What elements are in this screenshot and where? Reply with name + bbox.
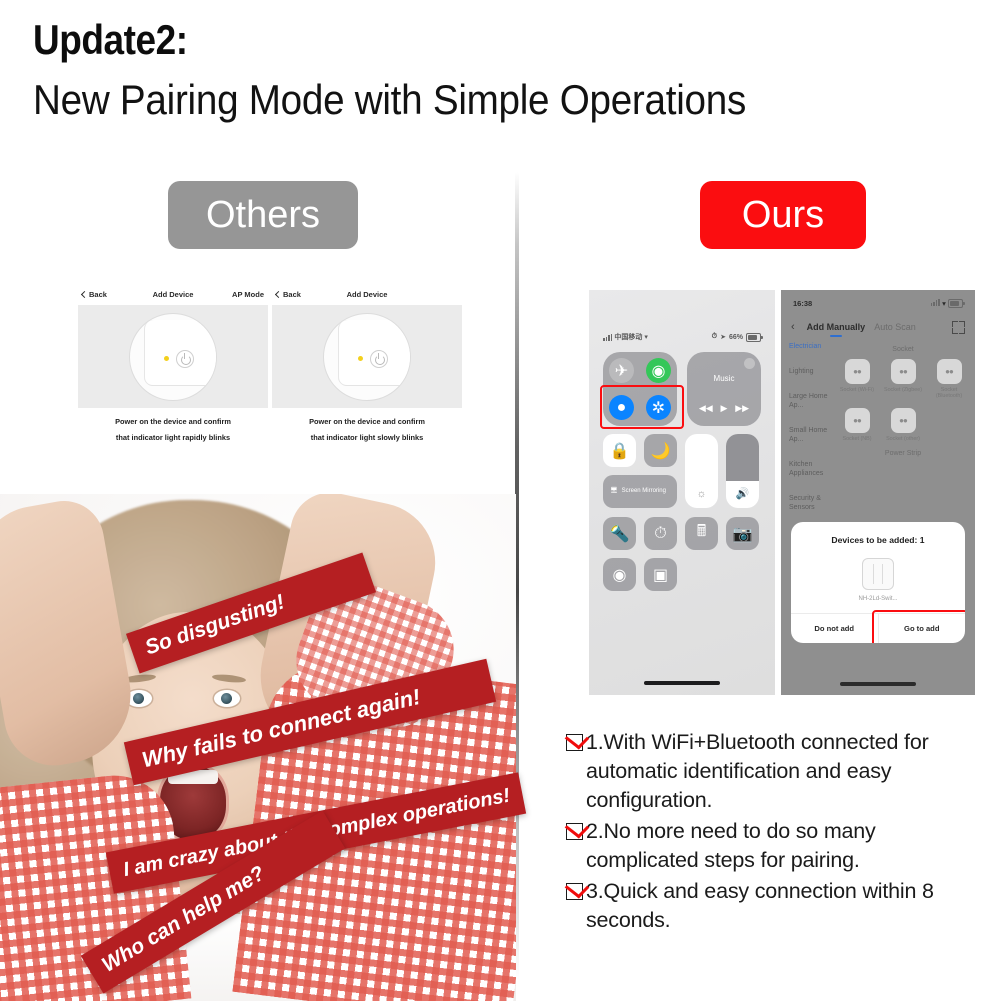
instruction-line-1: Power on the device and confirm — [272, 417, 462, 426]
rotation-lock-icon[interactable]: 🔒 — [603, 434, 636, 467]
power-button-icon — [370, 350, 388, 368]
device-item[interactable]: ●● Socket (Zigbee) — [883, 359, 923, 400]
music-title: Music — [687, 374, 761, 383]
smart-app-add-device-screenshot: 16:38 ▾ ‹ Add Manually Auto Scan Electri… — [781, 290, 975, 695]
control-center-grid: ✈ ◉ ● ✲ Music ◀◀ ▶ ▶▶ 🔒 🌙 🖥 — [603, 352, 761, 591]
connectivity-module: ✈ ◉ ● ✲ — [603, 352, 677, 426]
list-item: 3.Quick and easy connection within 8 sec… — [566, 877, 992, 935]
ios-control-center-screenshot: 中国移动 ▾ ⏱ ➤ 66% ✈ ◉ ● ✲ Music ◀◀ ▶ ▶▶ — [589, 290, 775, 695]
ours-badge: Ours — [700, 181, 866, 249]
list-item: 1.With WiFi+Bluetooth connected for auto… — [566, 728, 992, 815]
dialog-buttons: Do not add Go to add — [791, 613, 965, 643]
section-header-power-strip: Power Strip — [837, 450, 969, 457]
status-bar-right: ▾ — [931, 299, 963, 309]
control-center-row-3: 🔦 ⏱ 🖩 📷 — [603, 517, 761, 550]
socket-icon: ●● — [845, 359, 870, 384]
play-icon[interactable]: ▶ — [721, 403, 728, 414]
tab-add-manually[interactable]: Add Manually — [807, 322, 866, 332]
cellular-signal-icon — [603, 334, 612, 341]
previous-track-icon[interactable]: ◀◀ — [699, 403, 713, 414]
calculator-icon[interactable]: 🖩 — [685, 517, 718, 550]
status-bar-left: 中国移动 ▾ — [603, 332, 648, 342]
device-circle — [323, 313, 411, 401]
bullet-text: 1.With WiFi+Bluetooth connected for auto… — [586, 728, 992, 815]
clock-label: 16:38 — [793, 299, 812, 308]
feature-bullet-list: 1.With WiFi+Bluetooth connected for auto… — [566, 728, 992, 937]
indicator-led-icon — [164, 356, 169, 361]
dialog-title: Devices to be added: 1 — [791, 522, 965, 545]
sidebar-item-lighting[interactable]: Lighting — [789, 367, 833, 376]
device-illustration — [78, 305, 268, 408]
device-label: Socket (Zigbee) — [883, 387, 923, 393]
flashlight-icon[interactable]: 🔦 — [603, 517, 636, 550]
screen-mirroring-icon: 🖥 — [610, 488, 618, 495]
socket-icon: ●● — [937, 359, 962, 384]
devices-found-dialog: Devices to be added: 1 NH-2Ld-Swit... Do… — [791, 522, 965, 643]
checkbox-checked-icon — [566, 734, 583, 751]
device-item[interactable]: ●● Socket (Bluetooth) — [929, 359, 969, 400]
indicator-led-icon — [358, 356, 363, 361]
battery-icon — [948, 299, 963, 308]
qr-scan-icon[interactable]: ▣ — [644, 558, 677, 591]
checkbox-checked-icon — [566, 883, 583, 900]
volume-icon: 🔊 — [726, 487, 759, 500]
navbar-title: Add Device — [347, 290, 388, 299]
camera-icon[interactable]: 📷 — [726, 517, 759, 550]
music-widget[interactable]: Music ◀◀ ▶ ▶▶ — [687, 352, 761, 426]
cellular-data-icon[interactable]: ◉ — [646, 358, 671, 383]
device-catalog: Socket ●● Socket (Wi-Fi) ●● Socket (Zigb… — [837, 342, 969, 463]
category-sidebar: Electrician Lighting Large Home Ap... Sm… — [781, 342, 833, 528]
bullet-text: 2.No more need to do so many complicated… — [586, 817, 992, 875]
cellular-signal-icon — [931, 299, 940, 306]
wifi-icon: ▾ — [644, 333, 648, 341]
device-row: ●● Socket (Wi-Fi) ●● Socket (Zigbee) ●● … — [837, 359, 969, 400]
sidebar-item-small-home-appliances[interactable]: Small Home Ap... — [789, 426, 833, 444]
chevron-left-icon — [275, 290, 282, 297]
battery-icon — [746, 333, 761, 342]
airplay-icon[interactable] — [744, 358, 755, 369]
device-row: ●● Socket (NB) ●● Socket (other) — [837, 408, 969, 442]
status-bar: 中国移动 ▾ ⏱ ➤ 66% — [589, 330, 775, 344]
next-track-icon[interactable]: ▶▶ — [735, 403, 749, 414]
alarm-icon: ⏱ — [712, 333, 717, 341]
device-label: Socket (NB) — [837, 436, 877, 442]
instruction-line-1: Power on the device and confirm — [78, 417, 268, 426]
socket-icon: ●● — [891, 408, 916, 433]
brightness-slider[interactable]: ☼ — [685, 434, 718, 508]
others-badge: Others — [168, 181, 358, 249]
status-bar: 16:38 ▾ — [781, 297, 975, 310]
home-indicator — [644, 681, 720, 685]
bullet-text: 3.Quick and easy connection within 8 sec… — [586, 877, 992, 935]
app-navbar: Back Add Device — [272, 284, 462, 304]
sidebar-item-kitchen-appliances[interactable]: Kitchen Appliances — [789, 460, 833, 478]
socket-icon: ●● — [845, 408, 870, 433]
volume-slider[interactable]: 🔊 — [726, 434, 759, 508]
power-button-icon — [176, 350, 194, 368]
switch-device-icon — [862, 558, 894, 590]
back-button[interactable]: Back — [276, 290, 301, 299]
device-label: Socket (other) — [883, 436, 923, 442]
back-label: Back — [283, 290, 301, 299]
go-to-add-button[interactable]: Go to add — [879, 614, 966, 643]
page-title: Update2: New Pairing Mode with Simple Op… — [33, 16, 993, 126]
control-center-row-2: 🔒 🌙 🖥 Screen Mirroring ☼ 🔊 — [603, 426, 761, 508]
status-bar-right: ⏱ ➤ 66% — [712, 333, 761, 342]
airplane-mode-icon[interactable]: ✈ — [609, 358, 634, 383]
back-button[interactable]: Back — [82, 290, 107, 299]
ap-mode-button[interactable]: AP Mode — [232, 290, 264, 299]
tab-auto-scan[interactable]: Auto Scan — [874, 322, 916, 332]
device-illustration — [272, 305, 462, 408]
back-label: Back — [89, 290, 107, 299]
navbar-title: Add Device — [153, 290, 194, 299]
device-circle — [129, 313, 217, 401]
dialog-device: NH-2Ld-Swit... — [791, 545, 965, 613]
device-model-label: NH-2Ld-Swit... — [791, 596, 965, 602]
sidebar-item-security-sensors[interactable]: Security & Sensors — [789, 494, 833, 512]
device-item[interactable]: ●● Socket (NB) — [837, 408, 877, 442]
timer-icon[interactable]: ⏱ — [644, 517, 677, 550]
sidebar-item-large-home-appliances[interactable]: Large Home Ap... — [789, 392, 833, 410]
device-label: Socket (Bluetooth) — [929, 387, 969, 400]
headline-line-1: Update2: — [33, 16, 878, 64]
music-controls: ◀◀ ▶ ▶▶ — [687, 403, 761, 414]
instruction-line-2: that indicator light slowly blinks — [272, 433, 462, 442]
do-not-disturb-icon[interactable]: 🌙 — [644, 434, 677, 467]
home-indicator — [840, 682, 916, 686]
chevron-left-icon — [81, 290, 88, 297]
location-icon: ➤ — [720, 333, 726, 341]
app-navbar: ‹ Add Manually Auto Scan — [781, 316, 975, 338]
pupil-left — [133, 693, 144, 704]
pupil-right — [221, 693, 232, 704]
wifi-icon: ▾ — [942, 299, 946, 308]
list-item: 2.No more need to do so many complicated… — [566, 817, 992, 875]
app-navbar: Back Add Device AP Mode — [78, 284, 268, 304]
battery-percent-label: 66% — [729, 334, 743, 341]
wifi-toggle-icon[interactable]: ● — [609, 395, 634, 420]
bluetooth-toggle-icon[interactable]: ✲ — [646, 395, 671, 420]
device-item[interactable]: ●● Socket (Wi-Fi) — [837, 359, 877, 400]
device-label: Socket (Wi-Fi) — [837, 387, 877, 393]
section-header-socket: Socket — [837, 346, 969, 353]
device-item-empty — [929, 408, 969, 442]
scan-icon[interactable] — [952, 321, 965, 334]
screen-mirroring-button[interactable]: 🖥 Screen Mirroring — [603, 475, 677, 508]
checkbox-checked-icon — [566, 823, 583, 840]
back-button[interactable]: ‹ — [791, 321, 795, 333]
screen-mirroring-label: Screen Mirroring — [622, 488, 666, 495]
socket-icon: ●● — [891, 359, 916, 384]
brightness-icon: ☼ — [685, 488, 718, 500]
control-center-row-4: ◉ ▣ — [603, 558, 761, 591]
screen-record-icon[interactable]: ◉ — [603, 558, 636, 591]
do-not-add-button[interactable]: Do not add — [791, 614, 879, 643]
instruction-line-2: that indicator light rapidly blinks — [78, 433, 268, 442]
device-item[interactable]: ●● Socket (other) — [883, 408, 923, 442]
headline-line-2: New Pairing Mode with Simple Operations — [33, 74, 916, 126]
sidebar-item-electrician[interactable]: Electrician — [789, 342, 833, 351]
carrier-label: 中国移动 — [614, 332, 642, 342]
